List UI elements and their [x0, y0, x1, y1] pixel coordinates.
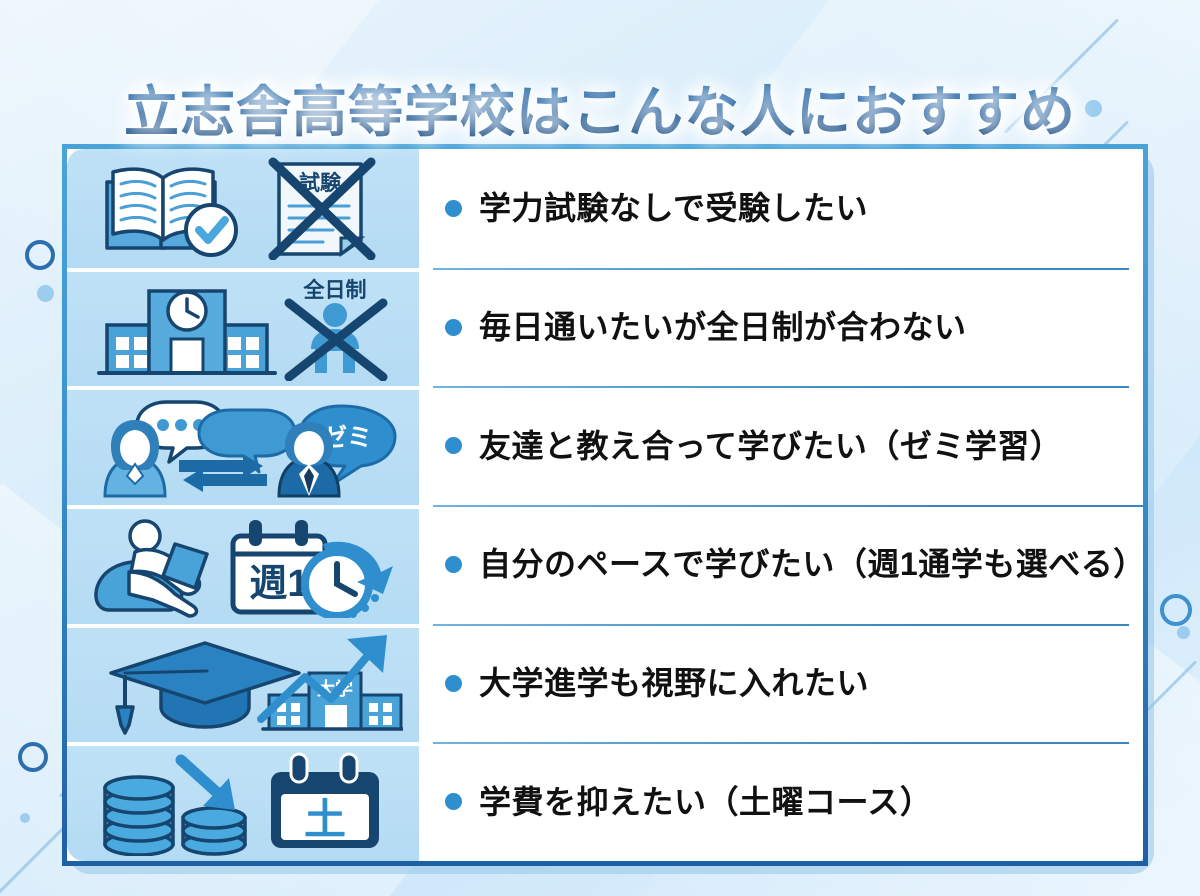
- icon-cell: 土: [67, 742, 419, 861]
- icon-cell: 全日制: [67, 268, 419, 387]
- bullet-icon: [445, 319, 462, 336]
- ring-bottom-left-icon: [18, 742, 48, 772]
- fulltime-label: 全日制: [303, 278, 367, 302]
- weekly-calendar-label: 週1: [249, 563, 308, 605]
- university-graduation-icon: 大学: [83, 633, 403, 737]
- icon-cell: ゼミ: [67, 386, 419, 505]
- ring-bottom-right-icon: [1160, 594, 1192, 626]
- page-title: 立志舎高等学校はこんな人におすすめ: [124, 67, 1076, 147]
- text-cell: 友達と教え合って学びたい（ゼミ学習）: [419, 386, 1143, 505]
- dot-top-left-icon: [37, 285, 54, 302]
- list-item-label: 学費を抑えたい（土曜コース）: [479, 782, 932, 822]
- text-cell: 毎日通いたいが全日制が合わない: [419, 268, 1143, 387]
- list-item-label: 学力試験なしで受験したい: [479, 188, 868, 228]
- bullet-icon: [445, 437, 462, 454]
- self-paced-weekly-icon: 週1: [83, 514, 403, 618]
- ring-top-left-icon: [25, 240, 55, 270]
- peer-learning-seminar-icon: ゼミ: [83, 396, 403, 500]
- list-item: 大学 大: [67, 624, 1143, 743]
- list-item-label: 大学進学も視野に入れたい: [479, 663, 869, 703]
- low-tuition-saturday-icon: 土: [83, 752, 403, 856]
- bullet-icon: [445, 556, 462, 573]
- icon-cell: 週1: [67, 505, 419, 624]
- title-container: 立志舎高等学校はこんな人におすすめ: [0, 30, 1200, 184]
- bullet-icon: [445, 793, 462, 810]
- dot-bottom-left-icon: [20, 813, 30, 823]
- list-item: ゼミ: [67, 386, 1143, 505]
- bullet-icon: [445, 200, 462, 217]
- icon-cell: 大学: [67, 624, 419, 743]
- text-cell: 自分のペースで学びたい（週1通学も選べる）: [419, 505, 1148, 624]
- recommendation-card: 試験 学力試験なしで受験したい: [62, 144, 1148, 866]
- list-item: 全日制 毎日通いたいが全日制が合わない: [67, 268, 1143, 387]
- school-no-fulltime-icon: 全日制: [83, 277, 403, 381]
- bullet-icon: [445, 675, 462, 692]
- slide-canvas: 立志舎高等学校はこんな人におすすめ: [0, 0, 1200, 896]
- list-item: 週1 自分のペースで学びたい（週1通学も選べる）: [67, 505, 1143, 624]
- text-cell: 大学進学も視野に入れたい: [419, 624, 1143, 743]
- list-item-label: 自分のペースで学びたい（週1通学も選べる）: [479, 544, 1146, 584]
- text-cell: 学費を抑えたい（土曜コース）: [419, 742, 1143, 861]
- list-item-label: 友達と教え合って学びたい（ゼミ学習）: [479, 426, 1062, 466]
- saturday-calendar-label: 土: [304, 796, 346, 843]
- list-item: 土 学費を抑えたい（土曜コース）: [67, 742, 1143, 861]
- dot-bottom-right-icon: [1177, 626, 1190, 639]
- list-item-label: 毎日通いたいが全日制が合わない: [479, 307, 967, 347]
